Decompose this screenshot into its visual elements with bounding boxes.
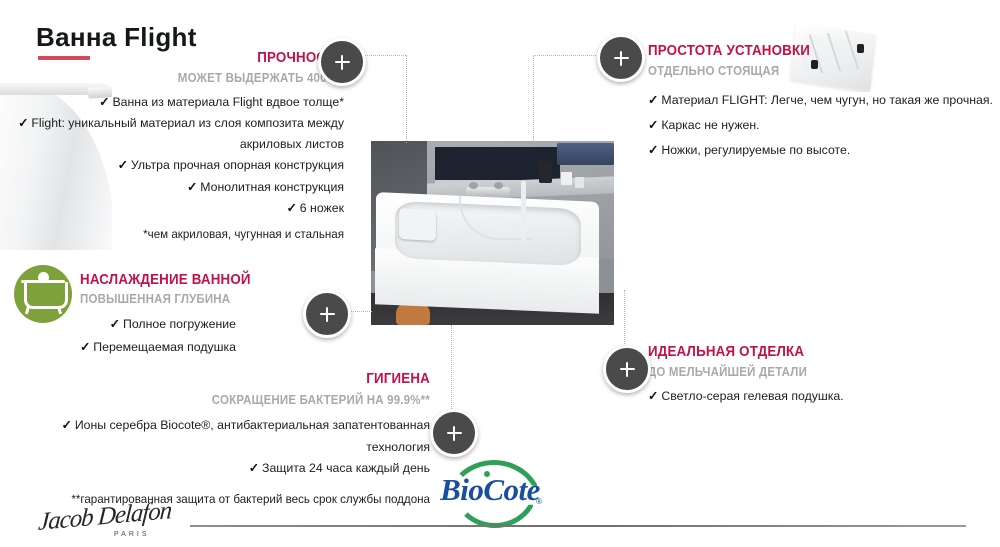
section-installation: ПРОСТОТА УСТАНОВКИ ОТДЕЛЬНО СТОЯЩАЯ ✓Мат… xyxy=(648,43,993,164)
plus-button-finish[interactable] xyxy=(603,345,651,393)
check-icon: ✓ xyxy=(249,461,259,475)
biocote-logo: BioCote ® xyxy=(434,460,544,518)
plus-button-strength[interactable] xyxy=(318,38,366,86)
jacob-delafon-signature-logo: Jacob Delafon PARIS xyxy=(38,503,188,543)
check-icon: ✓ xyxy=(62,418,72,432)
plus-button-hygiene[interactable] xyxy=(430,409,478,457)
check-icon: ✓ xyxy=(110,317,120,331)
section-strength-note: *чем акриловая, чугунная и стальная xyxy=(14,228,344,241)
section-strength-subtitle: МОЖЕТ ВЫДЕРЖАТЬ 400 КГ xyxy=(40,71,344,85)
connector-strength-vertical xyxy=(406,55,407,143)
check-icon: ✓ xyxy=(648,93,658,107)
section-strength-title: ПРОЧНОСТЬ xyxy=(40,50,344,66)
section-enjoyment: НАСЛАЖДЕНИЕ ВАННОЙ ПОВЫШЕННАЯ ГЛУБИНА xyxy=(80,272,330,306)
section-strength: ПРОЧНОСТЬ МОЖЕТ ВЫДЕРЖАТЬ 400 КГ ✓Ванна … xyxy=(14,50,344,241)
section-finish-title: ИДЕАЛЬНАЯ ОТДЕЛКА xyxy=(648,344,952,360)
section-finish: ИДЕАЛЬНАЯ ОТДЕЛКА ДО МЕЛЬЧАЙШЕЙ ДЕТАЛИ ✓… xyxy=(648,344,978,407)
bullet-installation-2: ✓Каркас не нужен. xyxy=(648,113,993,138)
bullet-strength-5: ✓6 ножек xyxy=(14,198,344,219)
page-title: Ванна Flight xyxy=(36,22,197,53)
connector-finish-vertical xyxy=(624,290,625,346)
bullet-strength-2: ✓Flight: уникальный материал из слоя ком… xyxy=(14,113,344,155)
biocote-wordmark: BioCote xyxy=(438,472,542,508)
bullet-installation-1: ✓Материал FLIGHT: Легче, чем чугун, но т… xyxy=(648,88,993,113)
section-hygiene-title: ГИГИЕНА xyxy=(90,371,430,387)
section-installation-subtitle: ОТДЕЛЬНО СТОЯЩАЯ xyxy=(648,64,965,78)
connector-installation-horizontal xyxy=(533,55,598,56)
check-icon: ✓ xyxy=(648,118,658,132)
infographic-canvas: Ванна Flight xyxy=(0,0,1000,547)
connector-installation-vertical xyxy=(533,55,534,143)
check-icon: ✓ xyxy=(99,95,109,109)
check-icon: ✓ xyxy=(118,158,128,172)
section-installation-title: ПРОСТОТА УСТАНОВКИ xyxy=(648,43,965,59)
section-enjoyment-subtitle: ПОВЫШЕННАЯ ГЛУБИНА xyxy=(80,292,310,306)
connector-hygiene-vertical xyxy=(451,325,452,409)
bullet-hygiene-2: ✓Защита 24 часа каждый день xyxy=(60,458,430,480)
bullet-strength-4: ✓Монолитная конструкция xyxy=(14,177,344,198)
bullet-strength-1: ✓Ванна из материала Flight вдвое толще* xyxy=(14,92,344,113)
check-icon: ✓ xyxy=(648,143,658,157)
bullet-enjoyment-1: ✓Полное погружение xyxy=(20,313,236,336)
bullet-installation-3: ✓Ножки, регулируемые по высоте. xyxy=(648,138,993,163)
biocote-registered-mark: ® xyxy=(536,497,542,506)
footer-divider xyxy=(190,525,966,527)
bullet-finish-1: ✓Светло-серая гелевая подушка. xyxy=(648,386,978,407)
section-finish-subtitle: ДО МЕЛЬЧАЙШЕЙ ДЕТАЛИ xyxy=(648,365,952,379)
check-icon: ✓ xyxy=(80,340,90,354)
check-icon: ✓ xyxy=(648,389,658,403)
section-enjoyment-bullets: ✓Полное погружение ✓Перемещаемая подушка xyxy=(20,313,236,358)
signature-script-text: Jacob Delafon xyxy=(37,497,172,537)
connector-enjoyment-horizontal xyxy=(348,311,372,312)
check-icon: ✓ xyxy=(286,201,296,215)
plus-button-enjoyment[interactable] xyxy=(303,290,351,338)
check-icon: ✓ xyxy=(187,180,197,194)
section-hygiene: ГИГИЕНА СОКРАЩЕНИЕ БАКТЕРИЙ НА 99.9%** ✓… xyxy=(60,371,430,506)
section-hygiene-subtitle: СОКРАЩЕНИЕ БАКТЕРИЙ НА 99.9%** xyxy=(90,393,430,407)
bullet-hygiene-1: ✓Ионы серебра Biocote®, антибактериальна… xyxy=(60,415,430,458)
bullet-strength-3: ✓Ультра прочная опорная конструкция xyxy=(14,155,344,176)
bathtub-main-photo xyxy=(371,141,614,325)
section-enjoyment-title: НАСЛАЖДЕНИЕ ВАННОЙ xyxy=(80,272,310,288)
bullet-enjoyment-2: ✓Перемещаемая подушка xyxy=(20,336,236,359)
plus-button-installation[interactable] xyxy=(597,34,645,82)
signature-city-text: PARIS xyxy=(114,531,150,538)
check-icon: ✓ xyxy=(18,116,28,130)
